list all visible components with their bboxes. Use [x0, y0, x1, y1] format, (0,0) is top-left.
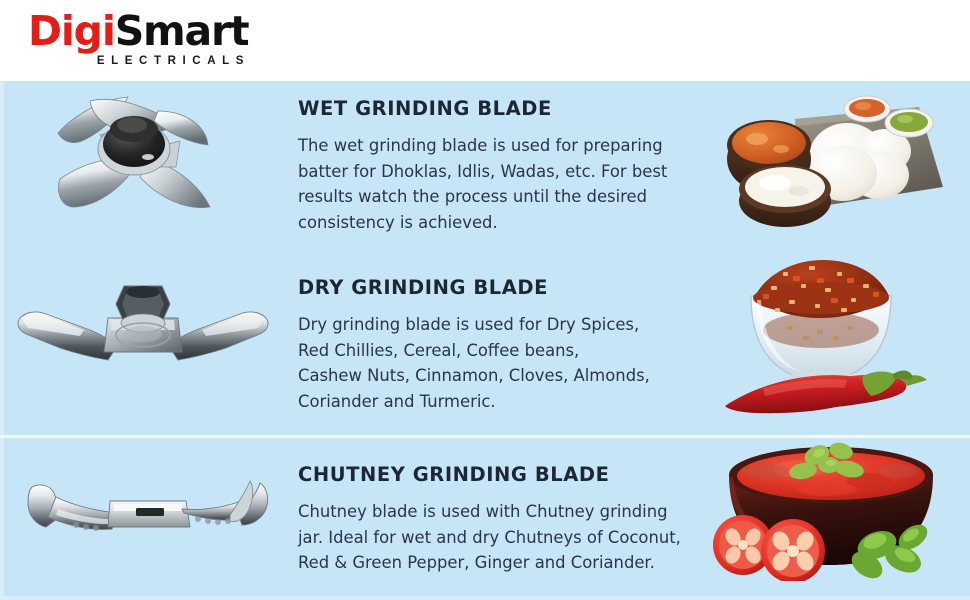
wet-blade-description-line: consistency is achieved.	[298, 210, 693, 236]
wet-blade-image-cell	[0, 81, 290, 251]
dry-blade-text-cell: DRY GRINDING BLADE Dry grinding blade is…	[290, 276, 705, 414]
chilli-photo-cell	[705, 256, 970, 434]
dry-grinding-blade-icon	[12, 278, 274, 374]
chutney-blade-text-cell: CHUTNEY GRINDING BLADE Chutney blade is …	[290, 463, 705, 576]
section-chutney-grinding-blade: CHUTNEY GRINDING BLADE Chutney blade is …	[0, 439, 970, 600]
chutney-photo-cell	[705, 439, 970, 600]
brand-logo: DigiSmart ELECTRICALS	[28, 8, 288, 74]
dry-blade-description-line: Red Chillies, Cereal, Coffee beans,	[298, 338, 693, 364]
dry-blade-description-line: Dry grinding blade is used for Dry Spice…	[298, 312, 693, 338]
product-infographic: DigiSmart ELECTRICALS	[0, 0, 970, 600]
wet-blade-description-line: The wet grinding blade is used for prepa…	[298, 133, 693, 159]
tomato-chutney-bowl-photo	[707, 441, 957, 581]
wet-blade-description-line: results watch the process until the desi…	[298, 184, 693, 210]
chutney-blade-description-line: Chutney blade is used with Chutney grind…	[298, 499, 693, 525]
wet-blade-title: WET GRINDING BLADE	[298, 97, 695, 120]
dry-blade-title: DRY GRINDING BLADE	[298, 276, 695, 299]
brand-wordmark: DigiSmart	[28, 8, 288, 54]
wet-blade-description-line: batter for Dhoklas, Idlis, Wadas, etc. F…	[298, 159, 693, 185]
chutney-blade-description-line: jar. Ideal for wet and dry Chutneys of C…	[298, 525, 693, 551]
brand-name-part2: Smart	[115, 7, 249, 55]
wet-blade-description: The wet grinding blade is used for prepa…	[298, 133, 693, 235]
content-area: WET GRINDING BLADE The wet grinding blad…	[0, 81, 970, 600]
idli-sambar-chutney-platter-photo	[707, 83, 965, 231]
chilli-flakes-bowl-red-chillies-photo	[713, 256, 961, 414]
section-wet-grinding-blade: WET GRINDING BLADE The wet grinding blad…	[0, 81, 970, 251]
section-divider	[0, 435, 970, 438]
wet-grinding-blade-icon	[30, 89, 260, 224]
section-dry-grinding-blade: DRY GRINDING BLADE Dry grinding blade is…	[0, 256, 970, 434]
chutney-blade-title: CHUTNEY GRINDING BLADE	[298, 463, 695, 486]
dry-blade-description: Dry grinding blade is used for Dry Spice…	[298, 312, 693, 414]
chutney-blade-image-cell	[0, 439, 290, 600]
wet-blade-text-cell: WET GRINDING BLADE The wet grinding blad…	[290, 97, 705, 235]
chutney-grinding-blade-icon	[22, 469, 274, 557]
header-band: DigiSmart ELECTRICALS	[0, 0, 970, 81]
chutney-blade-description: Chutney blade is used with Chutney grind…	[298, 499, 693, 576]
chutney-blade-description-line: Red & Green Pepper, Ginger and Coriander…	[298, 550, 693, 576]
brand-name-part1: Digi	[28, 7, 115, 55]
dry-blade-description-line: Cashew Nuts, Cinnamon, Cloves, Almonds,	[298, 363, 693, 389]
idli-photo-cell	[705, 81, 970, 251]
dry-blade-image-cell	[0, 256, 290, 434]
dry-blade-description-line: Coriander and Turmeric.	[298, 389, 693, 415]
brand-tagline: ELECTRICALS	[28, 55, 250, 67]
